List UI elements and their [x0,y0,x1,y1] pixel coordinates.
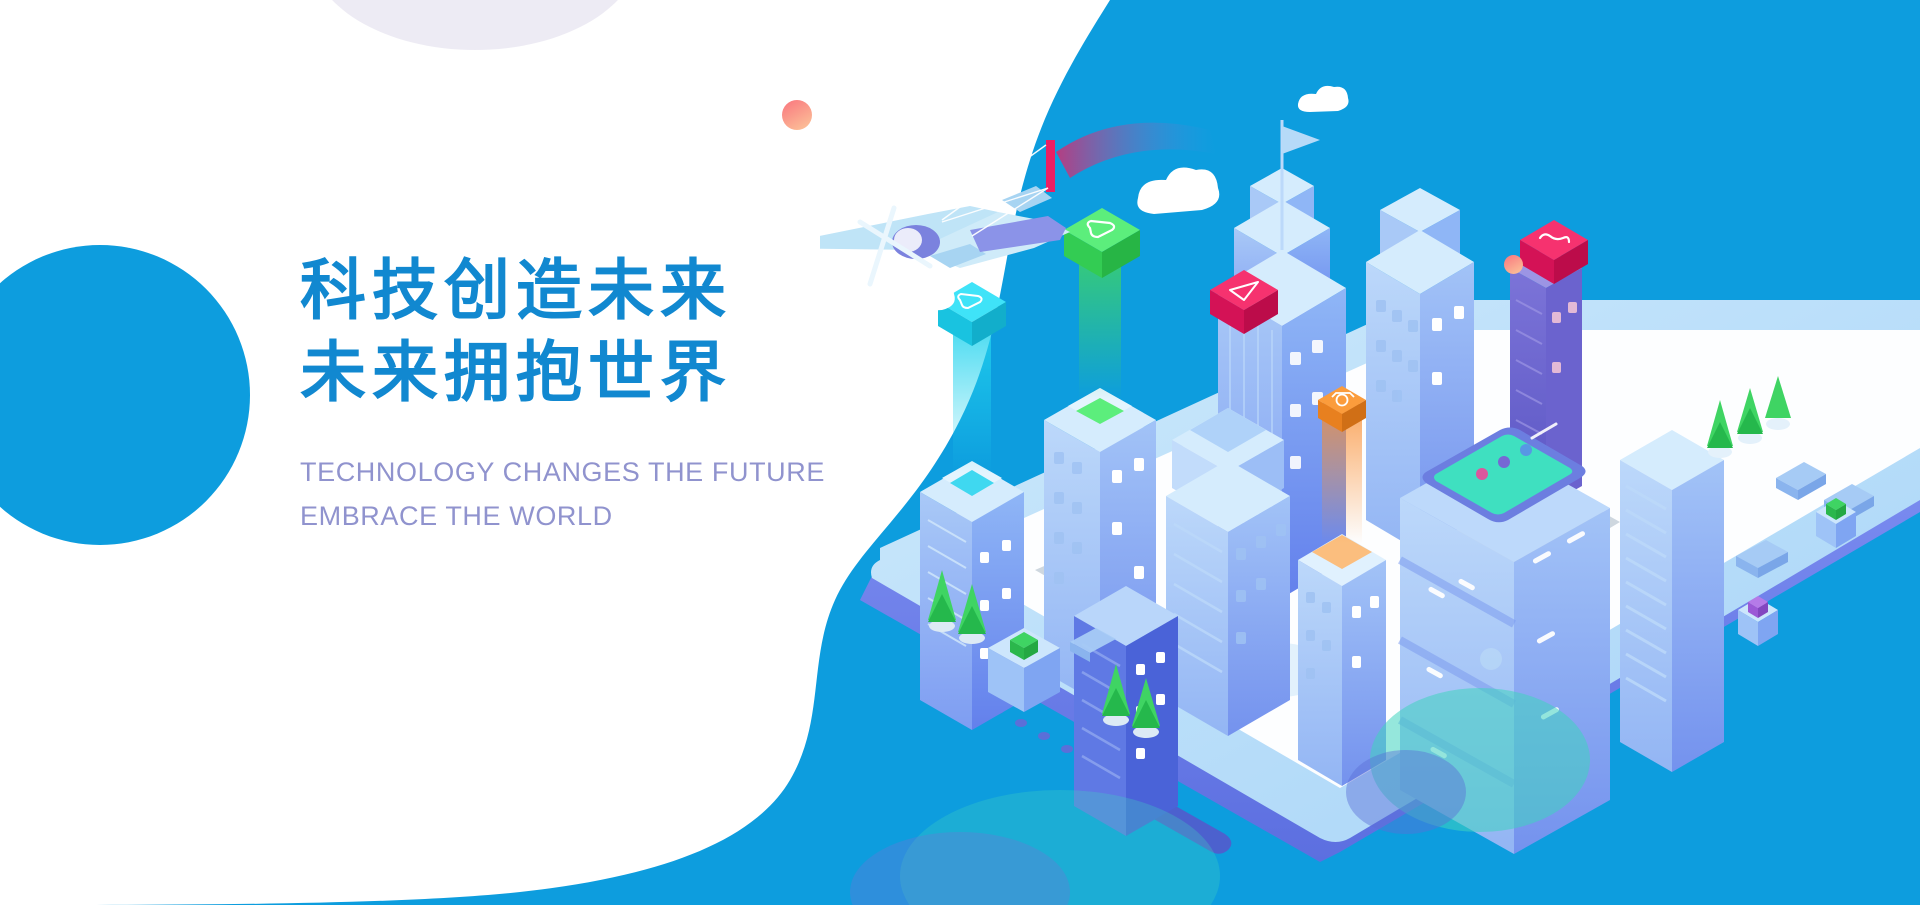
building-stepped [1166,408,1290,736]
isometric-city-illustration [820,0,1920,905]
pink-sphere [782,100,812,130]
cloud-icon [1137,168,1219,214]
cloud-icon [1298,86,1349,112]
hero-banner: 科技创造未来 未来拥抱世界 TECHNOLOGY CHANGES THE FUT… [0,0,1920,905]
pink-sphere [1504,255,1523,274]
green-app-icon [1064,208,1140,278]
blue-sphere-small [1480,648,1502,670]
flag-icon [1282,126,1320,154]
airplane-icon [820,186,1070,284]
building-striped-right [1620,430,1724,772]
cloud-icon [892,278,955,312]
